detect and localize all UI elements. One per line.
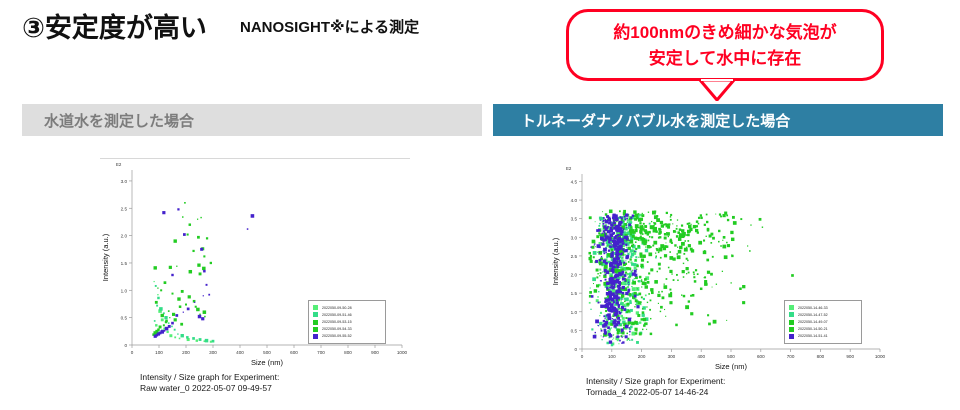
svg-text:2.5: 2.5 bbox=[121, 206, 128, 211]
svg-text:3.0: 3.0 bbox=[571, 235, 578, 240]
svg-text:4.5: 4.5 bbox=[571, 179, 578, 184]
svg-text:600: 600 bbox=[290, 350, 298, 355]
svg-text:0: 0 bbox=[131, 350, 134, 355]
legend-item: 2022050-14-46-33 bbox=[789, 305, 857, 312]
legend-label: 2022050-14-51-41 bbox=[798, 334, 828, 338]
svg-text:Intensity (a.u.): Intensity (a.u.) bbox=[551, 237, 560, 285]
svg-text:Size (nm): Size (nm) bbox=[715, 362, 748, 371]
section-label-tap-water: 水道水を測定した場合 bbox=[22, 110, 194, 131]
legend-item: 2022050-09-50-28 bbox=[313, 305, 381, 312]
svg-text:700: 700 bbox=[317, 350, 325, 355]
svg-text:300: 300 bbox=[668, 354, 676, 359]
svg-text:3.0: 3.0 bbox=[121, 179, 128, 184]
svg-text:1.0: 1.0 bbox=[121, 288, 128, 293]
legend-swatch bbox=[789, 312, 794, 317]
slide: ③安定度が高い NANOSIGHT※による測定 約100nmのきめ細かな気泡が … bbox=[0, 0, 960, 410]
legend-item: 2022050-09-54-33 bbox=[313, 326, 381, 333]
svg-text:100: 100 bbox=[155, 350, 163, 355]
legend-label: 2022050-14-46-33 bbox=[798, 306, 828, 310]
svg-text:3.5: 3.5 bbox=[571, 217, 578, 222]
svg-text:E2: E2 bbox=[116, 162, 122, 167]
svg-text:200: 200 bbox=[182, 350, 190, 355]
svg-text:700: 700 bbox=[787, 354, 795, 359]
svg-text:300: 300 bbox=[209, 350, 217, 355]
svg-text:1.5: 1.5 bbox=[571, 291, 578, 296]
scatter-plot-nanobubble: 00.51.01.52.02.53.03.54.04.5010020030040… bbox=[548, 162, 888, 410]
legend-label: 2022050-14-50-21 bbox=[798, 327, 828, 331]
svg-text:4.0: 4.0 bbox=[571, 198, 578, 203]
svg-text:2.0: 2.0 bbox=[121, 234, 128, 239]
chart-panel-nanobubble: 00.51.01.52.02.53.03.54.04.5010020030040… bbox=[548, 162, 888, 410]
legend-item: 2022050-09-55-52 bbox=[313, 333, 381, 340]
svg-text:2.0: 2.0 bbox=[571, 273, 578, 278]
legend-item: 2022050-09-51-46 bbox=[313, 312, 381, 319]
legend-raw-water: 2022050-09-50-282022050-09-51-462022050-… bbox=[308, 300, 386, 344]
svg-text:100: 100 bbox=[608, 354, 616, 359]
legend-swatch bbox=[789, 305, 794, 310]
svg-text:Intensity (a.u.): Intensity (a.u.) bbox=[101, 233, 110, 281]
legend-swatch bbox=[313, 312, 318, 317]
callout-line-1: 約100nmのきめ細かな気泡が bbox=[569, 20, 881, 46]
callout-box: 約100nmのきめ細かな気泡が 安定して水中に存在 bbox=[566, 9, 884, 81]
legend-item: 2022050-14-47-52 bbox=[789, 312, 857, 319]
svg-text:1.5: 1.5 bbox=[121, 261, 128, 266]
section-label-nanobubble: トルネーダナノバブル水を測定した場合 bbox=[493, 110, 790, 131]
legend-item: 2022050-14-51-41 bbox=[789, 333, 857, 340]
svg-text:0.5: 0.5 bbox=[571, 328, 578, 333]
section-header-tap-water: 水道水を測定した場合 bbox=[22, 104, 482, 136]
svg-text:2.5: 2.5 bbox=[571, 254, 578, 259]
svg-text:500: 500 bbox=[263, 350, 271, 355]
svg-text:E2: E2 bbox=[566, 166, 572, 171]
legend-label: 2022050-09-55-52 bbox=[322, 334, 352, 338]
svg-text:0: 0 bbox=[124, 343, 127, 348]
svg-text:Size (nm): Size (nm) bbox=[251, 358, 284, 367]
legend-swatch bbox=[789, 327, 794, 332]
legend-swatch bbox=[313, 305, 318, 310]
svg-text:200: 200 bbox=[638, 354, 646, 359]
svg-text:900: 900 bbox=[846, 354, 854, 359]
legend-label: 2022050-09-51-46 bbox=[322, 313, 352, 317]
legend-swatch bbox=[789, 320, 794, 325]
legend-label: 2022050-09-50-28 bbox=[322, 306, 352, 310]
section-header-nanobubble: トルネーダナノバブル水を測定した場合 bbox=[493, 104, 943, 136]
svg-text:500: 500 bbox=[727, 354, 735, 359]
svg-text:0.5: 0.5 bbox=[121, 316, 128, 321]
chart-caption-nanobubble: Intensity / Size graph for Experiment: T… bbox=[586, 376, 725, 398]
svg-text:800: 800 bbox=[817, 354, 825, 359]
legend-swatch bbox=[313, 334, 318, 339]
svg-text:0: 0 bbox=[581, 354, 584, 359]
chart-panel-raw-water: 00.51.01.52.02.53.0010020030040050060070… bbox=[100, 158, 410, 406]
callout-line-2: 安定して水中に存在 bbox=[569, 46, 881, 72]
legend-swatch bbox=[789, 334, 794, 339]
legend-swatch bbox=[313, 320, 318, 325]
legend-label: 2022050-09-54-33 bbox=[322, 327, 352, 331]
svg-text:0: 0 bbox=[574, 347, 577, 352]
legend-item: 2022050-09-53-15 bbox=[313, 319, 381, 326]
svg-text:400: 400 bbox=[697, 354, 705, 359]
svg-text:1000: 1000 bbox=[875, 354, 886, 359]
callout-tail-icon bbox=[698, 79, 736, 101]
chart-caption-raw-water: Intensity / Size graph for Experiment: R… bbox=[140, 372, 279, 394]
svg-text:900: 900 bbox=[371, 350, 379, 355]
svg-text:1.0: 1.0 bbox=[571, 310, 578, 315]
page-subtitle: NANOSIGHT※による測定 bbox=[240, 16, 419, 37]
svg-text:400: 400 bbox=[236, 350, 244, 355]
scatter-plot-raw-water: 00.51.01.52.02.53.0010020030040050060070… bbox=[100, 158, 410, 406]
legend-label: 2022050-14-49-07 bbox=[798, 320, 828, 324]
legend-item: 2022050-14-50-21 bbox=[789, 326, 857, 333]
legend-item: 2022050-14-49-07 bbox=[789, 319, 857, 326]
page-title: ③安定度が高い bbox=[22, 6, 207, 45]
legend-swatch bbox=[313, 327, 318, 332]
callout-text: 約100nmのきめ細かな気泡が 安定して水中に存在 bbox=[569, 20, 881, 72]
svg-text:1000: 1000 bbox=[397, 350, 408, 355]
svg-text:800: 800 bbox=[344, 350, 352, 355]
legend-nanobubble: 2022050-14-46-332022050-14-47-522022050-… bbox=[784, 300, 862, 344]
svg-text:600: 600 bbox=[757, 354, 765, 359]
legend-label: 2022050-14-47-52 bbox=[798, 313, 828, 317]
legend-label: 2022050-09-53-15 bbox=[322, 320, 352, 324]
